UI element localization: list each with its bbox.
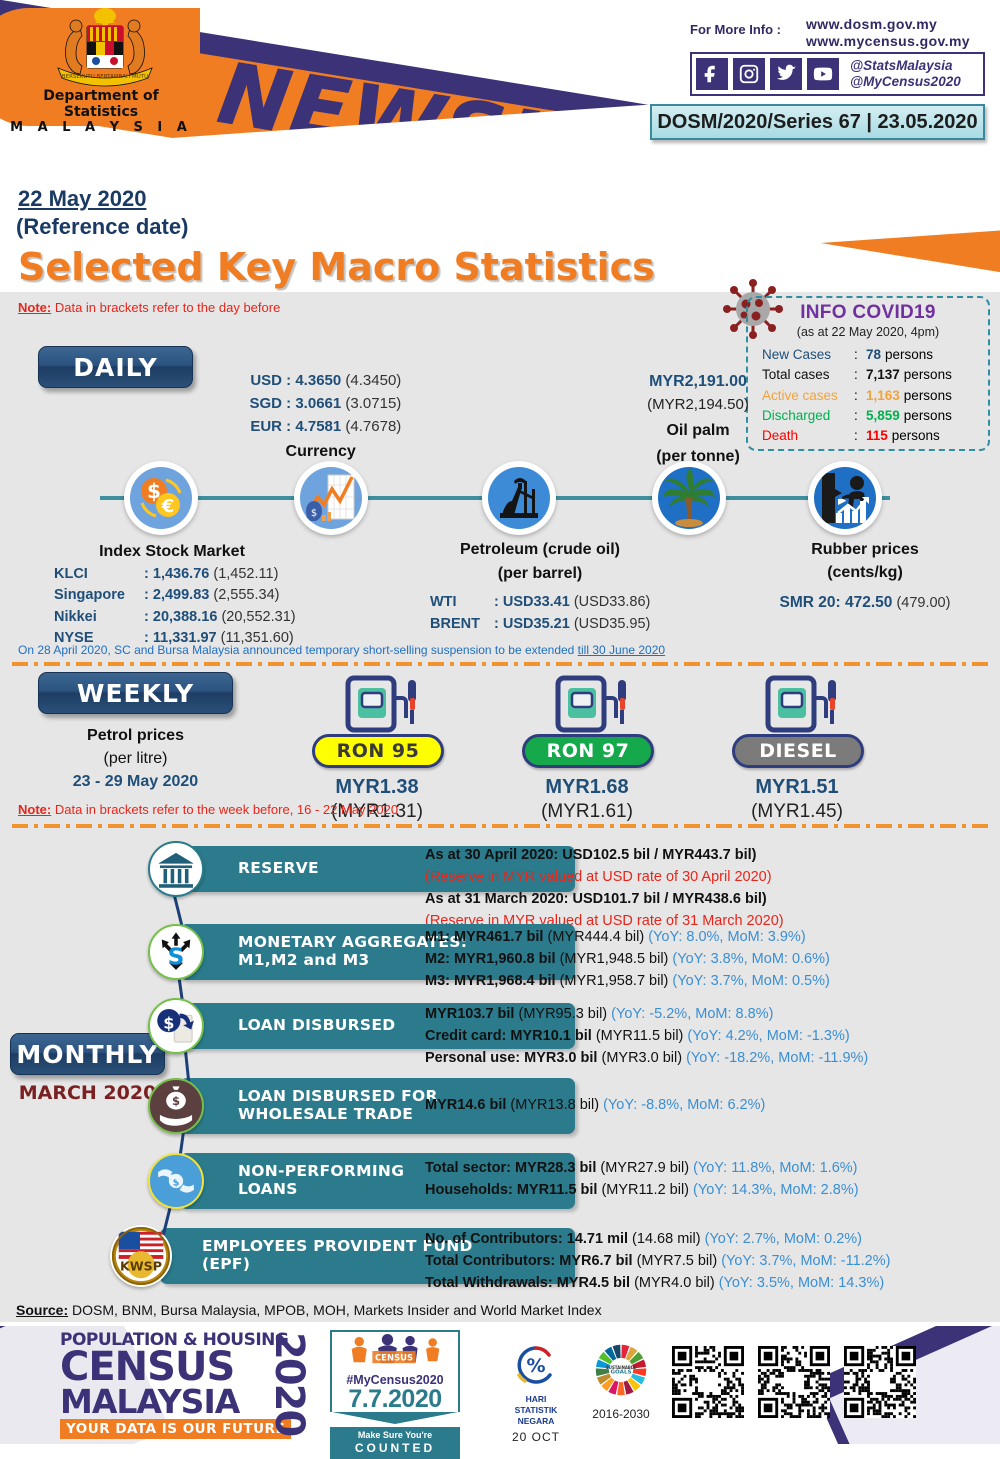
- fuel-badge-ron97: RON 97: [522, 734, 654, 768]
- stock-value: 1,436.76: [153, 566, 209, 582]
- loan-total: MYR103.7 bil: [425, 1006, 514, 1022]
- svg-text:GOALS: GOALS: [610, 1370, 631, 1376]
- youtube-icon[interactable]: [807, 58, 839, 90]
- hsn-date: 20 OCT: [498, 1430, 574, 1444]
- source-text: DOSM, BNM, Bursa Malaysia, MPOB, MOH, Ma…: [72, 1302, 602, 1318]
- source-line: Source: DOSM, BNM, Bursa Malaysia, MPOB,…: [16, 1302, 602, 1318]
- npl-households-pct: (YoY: 14.3%, MoM: 2.8%): [693, 1182, 859, 1198]
- m1-prev: (MYR444.4 bil): [547, 929, 644, 945]
- stock-row-klci: KLCI : 1,436.76 (1,452.11): [54, 564, 302, 585]
- counted-line-1: Make Sure You're: [332, 1430, 458, 1441]
- fuel-badge-ron95: RON 95: [312, 734, 444, 768]
- epf-withdrawals: Total Withdrawals: MYR4.5 bil: [425, 1275, 630, 1291]
- fuel-price-ron97: MYR1.68: [522, 776, 652, 799]
- handle-stats-malaysia: @StatsMalaysia: [850, 58, 961, 74]
- m2-pct: (YoY: 3.8%, MoM: 0.6%): [672, 951, 829, 967]
- rubber-tapping-icon: [808, 461, 882, 535]
- rubber-row-smr20: SMR 20: 472.50 (479.00): [740, 592, 990, 614]
- stock-name: Singapore: [54, 585, 140, 606]
- petroleum-caption-1: Petroleum (crude oil): [420, 538, 660, 562]
- oil-palm-value: MYR2,191.00: [608, 370, 788, 394]
- weekly-monthly-divider: [12, 824, 988, 828]
- daily-note-label: Note:: [18, 300, 51, 315]
- census-family-icon: CENSUS: [336, 1334, 454, 1366]
- petroleum-block: Petroleum (crude oil) (per barrel) WTI :…: [420, 538, 660, 636]
- m3-pct: (YoY: 3.7%, MoM: 0.5%): [672, 973, 829, 989]
- stock-chart-icon: $: [294, 461, 368, 535]
- currency-caption: Currency: [240, 440, 401, 464]
- m1-pct: (YoY: 8.0%, MoM: 3.9%): [648, 929, 805, 945]
- twitter-icon[interactable]: [770, 58, 802, 90]
- svg-text:KWSP: KWSP: [120, 1259, 162, 1274]
- currency-value: 3.0661: [295, 395, 341, 412]
- stock-name: KLCI: [54, 564, 140, 585]
- covid-unit: persons: [904, 406, 952, 426]
- currency-code: EUR: [240, 416, 282, 439]
- petroleum-prev: (USD33.86): [574, 594, 651, 610]
- stock-value: 2,499.83: [153, 587, 209, 603]
- stock-row-singapore: Singapore : 2,499.83 (2,555.34): [54, 585, 302, 606]
- census-logo: POPULATION & HOUSING CENSUS MALAYSIA 202…: [60, 1332, 310, 1439]
- handshake-money-icon: $: [148, 1153, 204, 1209]
- covid-row-discharged: Discharged : 5,859 persons: [762, 406, 988, 426]
- page-title: Selected Key Macro Statistics: [18, 245, 655, 289]
- svg-text:$: $: [311, 508, 317, 519]
- hsn-line-2: STATISTIK: [498, 1406, 574, 1415]
- currency-row-sgd: SGD : 3.0661 (3.0715): [240, 393, 401, 416]
- petroleum-prev: (USD35.95): [574, 616, 651, 632]
- reference-date-label: (Reference date): [16, 214, 188, 240]
- mycensus-text-block: #MyCensus2020 7.7.2020: [330, 1371, 460, 1412]
- m2-value: M2: MYR1,960.8 bil: [425, 951, 556, 967]
- reserve-line-3: As at 31 March 2020: USD101.7 bil / MYR4…: [425, 891, 767, 907]
- qr-dosm-icon[interactable]: [672, 1346, 744, 1418]
- stock-row-nikkei: Nikkei : 20,388.16 (20,552.31): [54, 607, 302, 628]
- reserve-line-1: As at 30 April 2020: USD102.5 bil / MYR4…: [425, 847, 756, 863]
- epf-contributors-pct: (YoY: 2.7%, MoM: 0.2%): [705, 1231, 862, 1247]
- loan-total-prev: (MYR95.3 bil): [518, 1006, 607, 1022]
- fuel-pump-icon: [732, 672, 862, 734]
- reserve-line-2: (Reserve in MYR valued at USD rate of 30…: [425, 866, 784, 888]
- monthly-row-label: RESERVE: [238, 860, 319, 878]
- money-supply-icon: S: [148, 924, 204, 980]
- currency-prev: (3.0715): [345, 395, 401, 412]
- epf-contributors: No. of Contributors: 14.71 mil: [425, 1231, 628, 1247]
- sdg-range: 2016-2030: [578, 1407, 664, 1421]
- covid-row-death: Death : 115 persons: [762, 426, 988, 446]
- loan-personal-pct: (YoY: -18.2%, MoM: -11.9%): [686, 1050, 868, 1066]
- stock-prev: (20,552.31): [221, 609, 295, 625]
- monthly-period: MARCH 2020: [10, 1082, 165, 1104]
- weekly-note-label: Note:: [18, 802, 51, 817]
- mycensus-badge: CENSUS #MyCensus2020 7.7.2020 Make Sure …: [330, 1330, 460, 1459]
- petroleum-value: USD35.21: [503, 616, 570, 632]
- wholesale-prev: (MYR13.8 bil): [510, 1097, 599, 1113]
- npl-households-prev: (MYR11.2 bil): [601, 1182, 689, 1198]
- fuel-diesel: DIESEL MYR1.51 (MYR1.45): [732, 672, 862, 823]
- monthly-data-epf: No. of Contributors: 14.71 mil (14.68 mi…: [425, 1228, 890, 1294]
- hsn-line-3: NEGARA: [498, 1417, 574, 1426]
- url-dosm[interactable]: www.dosm.gov.my: [806, 16, 970, 33]
- svg-text:€: €: [161, 496, 175, 517]
- stock-market-block: Index Stock Market KLCI : 1,436.76 (1,45…: [42, 540, 302, 649]
- oil-palm-block: MYR2,191.00 (MYR2,194.50) Oil palm (per …: [608, 370, 788, 469]
- daily-weekly-divider: [12, 662, 988, 666]
- epf-withdrawals-prev: (MYR4.0 bil): [634, 1275, 715, 1291]
- currency-prev: (4.3450): [345, 372, 401, 389]
- epf-emblem-icon: KWSP: [110, 1225, 172, 1287]
- svg-text:%: %: [526, 1355, 545, 1377]
- fuel-pump-icon: [312, 672, 442, 734]
- petroleum-name: WTI: [430, 592, 490, 614]
- monthly-row-label: LOAN DISBURSED FOR WHOLESALE TRADE: [238, 1088, 438, 1124]
- qr-facebook-icon[interactable]: [758, 1346, 830, 1418]
- more-info-label: For More Info :: [690, 22, 781, 37]
- hari-statistik-negara-logo: % HARI STATISTIK NEGARA 20 OCT: [498, 1342, 574, 1444]
- short-selling-text: On 28 April 2020, SC and Bursa Malaysia …: [18, 643, 578, 657]
- handle-mycensus: @MyCensus2020: [850, 74, 961, 90]
- rubber-prev: (479.00): [896, 595, 950, 611]
- petrol-caption: Petrol prices (per litre) 23 - 29 May 20…: [38, 724, 233, 794]
- npl-total: Total sector: MYR28.3 bil: [425, 1160, 596, 1176]
- monthly-data-loan-disbursed: MYR103.7 bil (MYR95.3 bil) (YoY: -5.2%, …: [425, 1003, 868, 1069]
- epf-total-contributors-prev: (MYR7.5 bil): [637, 1253, 718, 1269]
- dosm-line-2: M A L A Y S I A: [6, 120, 196, 135]
- covid-row-total-cases: Total cases : 7,137 persons: [762, 365, 988, 385]
- petroleum-row-wti: WTI : USD33.41 (USD33.86): [430, 592, 660, 614]
- mycensus-counted: Make Sure You're COUNTED: [330, 1427, 460, 1459]
- currency-prev: (4.7678): [345, 418, 401, 435]
- svg-text:$: $: [172, 1094, 180, 1108]
- hsn-line-1: HARI: [498, 1395, 574, 1404]
- covid-value: 115: [866, 426, 888, 446]
- m3-value: M3: MYR1,968.4 bil: [425, 973, 556, 989]
- covid-unit: persons: [892, 426, 940, 446]
- monthly-data-npl: Total sector: MYR28.3 bil (MYR27.9 bil) …: [425, 1157, 859, 1201]
- fuel-price-ron95: MYR1.38: [312, 776, 442, 799]
- monthly-data-reserve: As at 30 April 2020: USD102.5 bil / MYR4…: [425, 844, 784, 932]
- m3-prev: (MYR1,958.7 bil): [560, 973, 669, 989]
- petroleum-row-brent: BRENT : USD35.21 (USD35.95): [430, 614, 660, 636]
- wholesale-value: MYR14.6 bil: [425, 1097, 506, 1113]
- dosm-org-name: Department of Statistics M A L A Y S I A: [6, 88, 196, 135]
- social-media-box: @StatsMalaysia @MyCensus2020: [690, 52, 985, 96]
- short-selling-link[interactable]: till 30 June 2020: [578, 643, 665, 657]
- loan-credit-card: Credit card: MYR10.1 bil: [425, 1028, 592, 1044]
- series-badge: DOSM/2020/Series 67 | 23.05.2020: [650, 104, 985, 140]
- rubber-label: SMR 20: 472.50: [780, 594, 893, 611]
- mycensus-shield: CENSUS: [330, 1330, 460, 1371]
- npl-total-prev: (MYR27.9 bil): [600, 1160, 689, 1176]
- url-mycensus[interactable]: www.mycensus.gov.my: [806, 33, 970, 50]
- covid-rows: New Cases : 78 persons Total cases : 7,1…: [762, 345, 988, 446]
- census-year: 2020: [266, 1332, 312, 1435]
- monthly-data-monetary: M1: MYR461.7 bil (MYR444.4 bil) (YoY: 8.…: [425, 926, 830, 992]
- loan-dollar-icon: $: [148, 998, 204, 1054]
- stock-prev: (2,555.34): [213, 587, 279, 603]
- bank-building-icon: [148, 841, 204, 897]
- covid-value: 78: [866, 345, 881, 365]
- currency-row-eur: EUR : 4.7581 (4.7678): [240, 416, 401, 439]
- currency-code: SGD: [240, 393, 282, 416]
- social-handles: @StatsMalaysia @MyCensus2020: [850, 58, 961, 90]
- monthly-row-label: LOAN DISBURSED: [238, 1017, 395, 1035]
- covid-unit: persons: [885, 345, 933, 365]
- info-urls: www.dosm.gov.my www.mycensus.gov.my: [806, 16, 970, 50]
- covid-value: 7,137: [866, 365, 900, 385]
- oil-palm-prev: (MYR2,194.50): [608, 394, 788, 417]
- stock-prev: (1,452.11): [213, 566, 278, 582]
- covid-row-new-cases: New Cases : 78 persons: [762, 345, 988, 365]
- svg-text:CENSUS: CENSUS: [375, 1352, 413, 1362]
- short-selling-note: On 28 April 2020, SC and Bursa Malaysia …: [18, 643, 665, 657]
- newsletter-page: NEWSLETTER: [0, 0, 1000, 1444]
- sdg-logo: SUSTAINABLE GOALS 2016-2030: [578, 1342, 664, 1421]
- m2-prev: (MYR1,948.5 bil): [560, 951, 669, 967]
- daily-section-pill: DAILY: [38, 346, 193, 388]
- petrol-unit: (per litre): [38, 747, 233, 770]
- source-label: Source:: [16, 1302, 68, 1318]
- rubber-block: Rubber prices (cents/kg) SMR 20: 472.50 …: [740, 538, 990, 615]
- loan-credit-card-pct: (YoY: 4.2%, MoM: -1.3%): [687, 1028, 849, 1044]
- rubber-caption-2: (cents/kg): [740, 561, 990, 584]
- sdg-wheel-icon: SUSTAINABLE GOALS: [593, 1342, 649, 1398]
- epf-contributors-prev: (14.68 mil): [632, 1231, 701, 1247]
- monthly-row-label: NON-PERFORMING LOANS: [238, 1163, 404, 1199]
- fuel-prev-diesel: (MYR1.45): [732, 801, 862, 823]
- weekly-note: Note: Data in brackets refer to the week…: [18, 802, 398, 817]
- reference-date-value: 22 May 2020: [18, 186, 146, 211]
- money-bag-hand-icon: $: [148, 1078, 204, 1134]
- qr-census-icon[interactable]: [844, 1346, 916, 1418]
- covid-subtitle: (as at 22 May 2020, 4pm): [748, 325, 988, 339]
- mycensus-date: 7.7.2020: [336, 1387, 454, 1412]
- fuel-ron95: RON 95 MYR1.38 (MYR1.31): [312, 672, 442, 823]
- loan-credit-card-prev: (MYR11.5 bil): [596, 1028, 684, 1044]
- daily-note: Note: Data in brackets refer to the day …: [18, 300, 280, 315]
- loan-personal-prev: (MYR3.0 bil): [601, 1050, 682, 1066]
- fuel-price-diesel: MYR1.51: [732, 776, 862, 799]
- svg-text:S: S: [168, 944, 185, 971]
- svg-text:$: $: [163, 1014, 174, 1033]
- petrol-title: Petrol prices: [38, 724, 233, 747]
- currency-block: USD : 4.3650 (4.3450) SGD : 3.0661 (3.07…: [240, 370, 401, 465]
- epf-withdrawals-pct: (YoY: 3.5%, MoM: 14.3%): [719, 1275, 885, 1291]
- instagram-icon[interactable]: [733, 58, 765, 90]
- monthly-section-pill: MONTHLY: [10, 1033, 165, 1075]
- petroleum-caption-2: (per barrel): [420, 562, 660, 586]
- mycensus-point: [332, 1412, 458, 1424]
- stock-value: 20,388.16: [153, 609, 218, 625]
- covid-value: 5,859: [866, 406, 900, 426]
- petroleum-value: USD33.41: [503, 594, 570, 610]
- currency-code: USD: [240, 370, 282, 393]
- weekly-section-pill: WEEKLY: [38, 672, 233, 714]
- covid-unit: persons: [904, 386, 952, 406]
- loan-total-pct: (YoY: -5.2%, MoM: 8.8%): [611, 1006, 773, 1022]
- weekly-note-text: Data in brackets refer to the week befor…: [55, 802, 398, 817]
- stock-caption: Index Stock Market: [42, 540, 302, 564]
- census-tagline: YOUR DATA IS OUR FUTURE: [60, 1419, 291, 1439]
- reference-date: 22 May 2020: [18, 186, 146, 212]
- epf-total-contributors: Total Contributors: MYR6.7 bil: [425, 1253, 633, 1269]
- petrol-period: 23 - 29 May 2020: [38, 770, 233, 793]
- facebook-icon[interactable]: [696, 58, 728, 90]
- m1-value: M1: MYR461.7 bil: [425, 929, 543, 945]
- rubber-caption-1: Rubber prices: [740, 538, 990, 561]
- fuel-prev-ron97: (MYR1.61): [522, 801, 652, 823]
- npl-households: Households: MYR11.5 bil: [425, 1182, 597, 1198]
- fuel-pump-icon: [522, 672, 652, 734]
- currency-row-usd: USD : 4.3650 (4.3450): [240, 370, 401, 393]
- wholesale-pct: (YoY: -8.8%, MoM: 6.2%): [603, 1097, 765, 1113]
- stock-name: Nikkei: [54, 607, 140, 628]
- monthly-data-loan-wholesale: MYR14.6 bil (MYR13.8 bil) (YoY: -8.8%, M…: [425, 1094, 765, 1116]
- petroleum-name: BRENT: [430, 614, 490, 636]
- svg-text:BERSEKUTU BERTAMBAH MUTU: BERSEKUTU BERTAMBAH MUTU: [62, 74, 148, 80]
- oil-palm-tree-icon: [652, 461, 726, 535]
- malaysia-coat-of-arms-icon: BERSEKUTU BERTAMBAH MUTU: [30, 6, 180, 98]
- fuel-ron97: RON 97 MYR1.68 (MYR1.61): [522, 672, 652, 823]
- currency-exchange-icon: $ €: [124, 461, 198, 535]
- daily-note-text: Data in brackets refer to the day before: [55, 300, 280, 315]
- hsn-percent-icon: %: [498, 1342, 574, 1388]
- covid-title: INFO COVID19: [748, 302, 988, 324]
- npl-total-pct: (YoY: 11.8%, MoM: 1.6%): [693, 1160, 857, 1176]
- oil-palm-caption-1: Oil palm: [608, 419, 788, 443]
- loan-personal: Personal use: MYR3.0 bil: [425, 1050, 597, 1066]
- fuel-badge-diesel: DIESEL: [732, 734, 864, 768]
- covid-row-active-cases: Active cases : 1,163 persons: [762, 386, 988, 406]
- currency-value: 4.3650: [295, 372, 341, 389]
- currency-value: 4.7581: [295, 418, 341, 435]
- covid-unit: persons: [904, 365, 952, 385]
- covid-label: New Cases: [762, 345, 854, 365]
- covid-value: 1,163: [866, 386, 900, 406]
- epf-total-contributors-pct: (YoY: 3.7%, MoM: -11.2%): [721, 1253, 890, 1269]
- dosm-line-1: Department of Statistics: [6, 88, 196, 120]
- oil-pump-icon: [482, 461, 556, 535]
